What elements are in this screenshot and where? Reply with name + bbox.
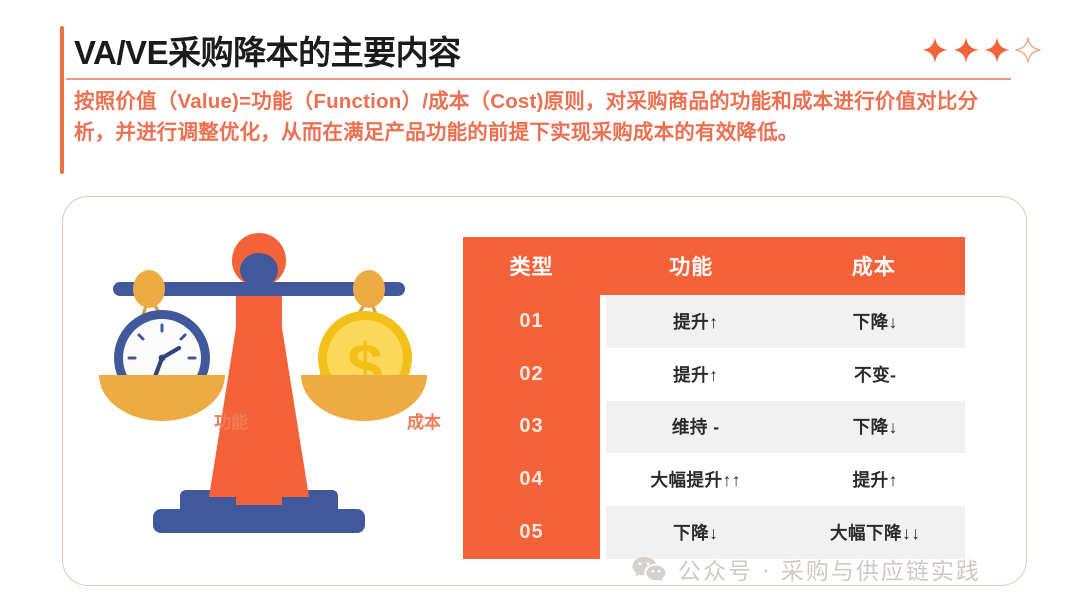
wechat-icon — [632, 555, 666, 583]
table-row-type: 03 — [463, 401, 600, 454]
table-row-type: 05 — [463, 506, 600, 559]
title-accent-bar — [60, 26, 64, 174]
cell-function: 下降↓ — [606, 520, 786, 545]
page-title: VA/VE采购降本的主要内容 — [74, 26, 461, 74]
cell-cost: 下降↓ — [786, 309, 966, 334]
cell-cost: 提升↑ — [786, 467, 966, 492]
table-row: 大幅提升↑↑ 提升↑ — [606, 453, 965, 506]
diamond-filled-icon — [952, 36, 980, 64]
diamond-filled-icon — [921, 36, 949, 64]
vave-comparison-table: 类型 功能 成本 01 提升↑ 下降↓ 02 提升↑ 不变- 03 维持 - 下… — [463, 237, 965, 559]
cell-cost: 下降↓ — [786, 414, 966, 439]
table-header-cost: 成本 — [783, 237, 966, 295]
cell-function: 维持 - — [606, 414, 786, 439]
slide-header: VA/VE采购降本的主要内容 按照价值（Value)=功能（Function）/… — [0, 0, 1080, 190]
cell-function: 提升↑ — [606, 309, 786, 334]
table-header-function: 功能 — [600, 237, 783, 295]
balance-scale-illustration: $ 功能 成本 — [83, 225, 433, 555]
table-row: 提升↑ 下降↓ — [606, 295, 965, 348]
cell-function: 提升↑ — [606, 362, 786, 387]
diamond-outline-icon — [1014, 36, 1042, 64]
illustration-label-function: 功能 — [186, 408, 276, 433]
table-row-type: 02 — [463, 348, 600, 401]
table-header-type: 类型 — [463, 237, 600, 295]
cell-function: 大幅提升↑↑ — [606, 467, 786, 492]
pivot-icon — [240, 253, 278, 287]
table-row: 提升↑ 不变- — [606, 348, 965, 401]
balance-scale-svg: $ — [83, 225, 433, 555]
page-subtitle: 按照价值（Value)=功能（Function）/成本（Cost)原则，对采购商… — [74, 86, 1019, 148]
table-row: 维持 - 下降↓ — [606, 401, 965, 454]
table-row-type: 04 — [463, 453, 600, 506]
diamond-decoration — [921, 36, 1042, 64]
left-hanger — [133, 270, 165, 308]
illustration-label-cost: 成本 — [379, 408, 469, 433]
table-header-row: 功能 成本 — [600, 237, 965, 295]
cell-cost: 不变- — [786, 362, 966, 387]
diamond-filled-icon — [983, 36, 1011, 64]
right-hanger — [353, 270, 385, 308]
cell-cost: 大幅下降↓↓ — [786, 520, 966, 545]
content-card: $ 功能 成本 类型 功能 成本 01 提升↑ 下降↓ — [62, 196, 1027, 586]
slide-root: VA/VE采购降本的主要内容 按照价值（Value)=功能（Function）/… — [0, 0, 1080, 608]
title-divider — [66, 78, 1011, 80]
table-row-type: 01 — [463, 295, 600, 348]
watermark: 公众号 · 采购与供应链实践 — [632, 552, 981, 586]
watermark-text: 公众号 · 采购与供应链实践 — [678, 552, 981, 586]
